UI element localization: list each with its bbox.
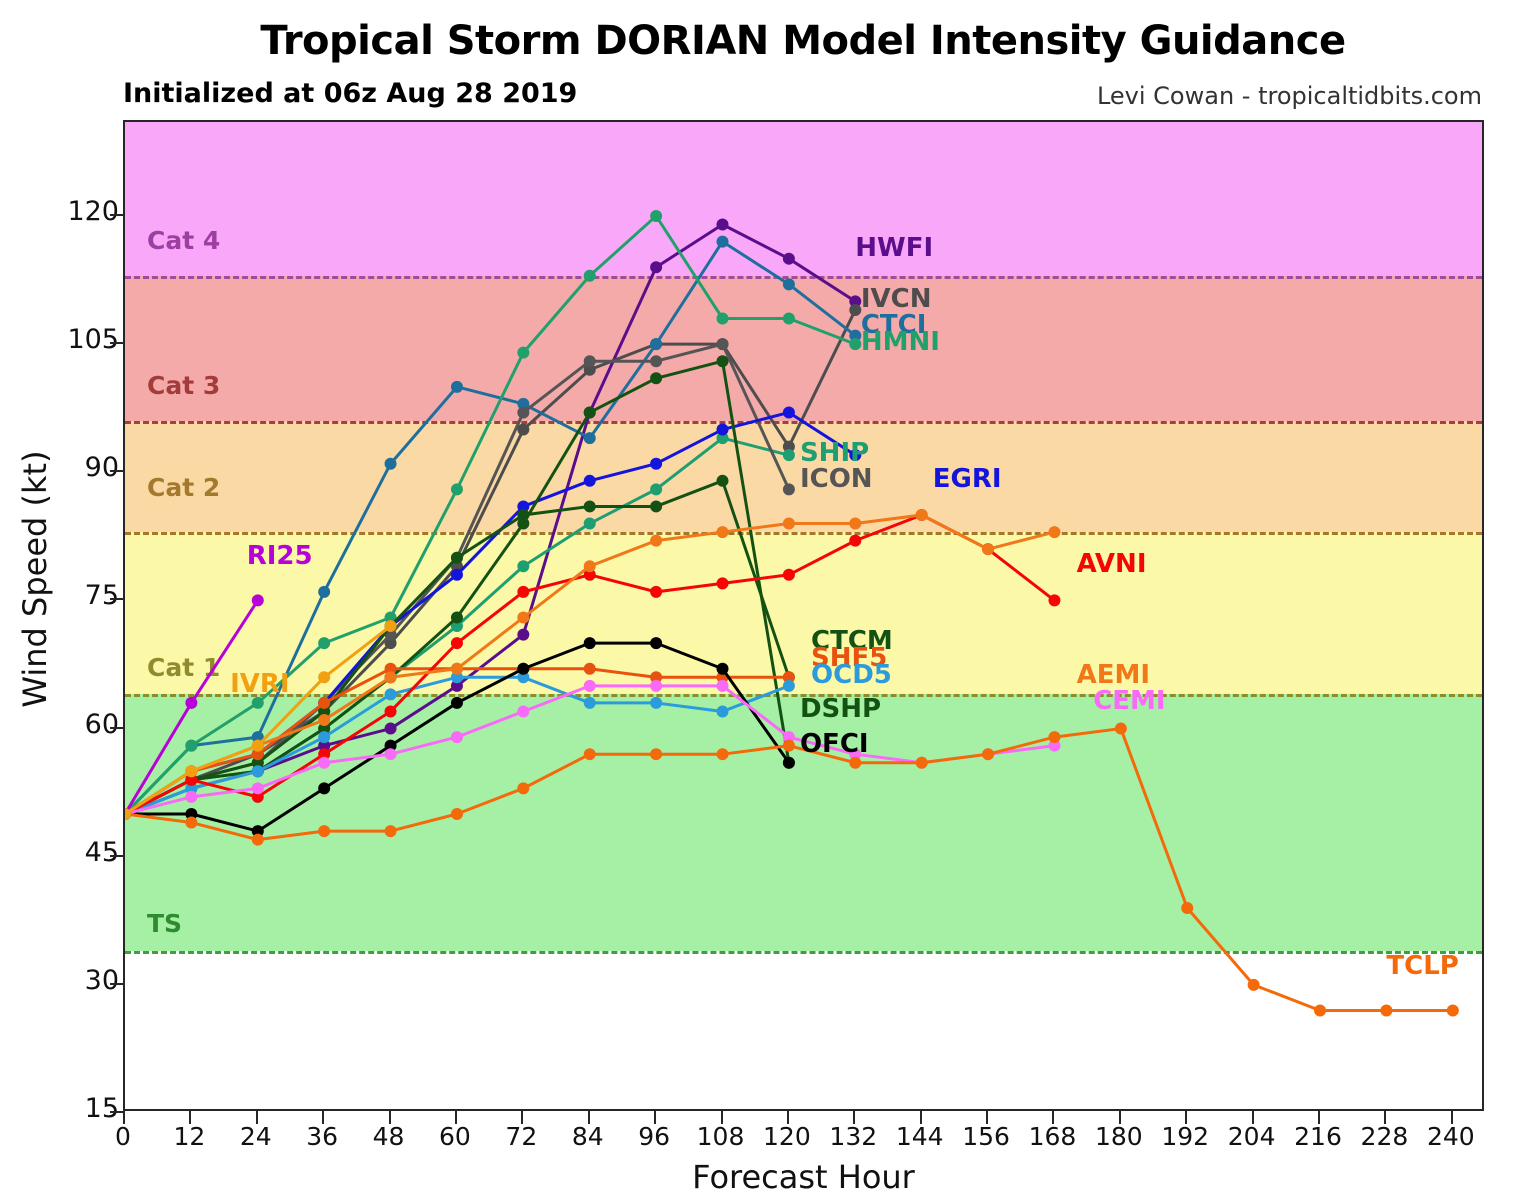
data-point (385, 688, 397, 700)
data-point (650, 637, 662, 649)
series-line-tclp (125, 729, 1453, 1011)
data-point (451, 637, 463, 649)
data-point (783, 406, 795, 418)
data-point (185, 740, 197, 752)
data-point (385, 671, 397, 683)
data-point (650, 500, 662, 512)
data-point (1447, 1004, 1459, 1016)
y-axis-tick-label: 15 (0, 1093, 119, 1124)
data-point (451, 552, 463, 564)
data-point (385, 723, 397, 735)
data-point (584, 560, 596, 572)
data-point (849, 338, 861, 350)
data-point (451, 808, 463, 820)
series-label-cemi: CEMI (1093, 686, 1165, 716)
data-point (650, 338, 662, 350)
x-axis-tick-mark (853, 1111, 855, 1124)
data-point (451, 697, 463, 709)
data-point (318, 586, 330, 598)
x-axis-tick-mark (1185, 1111, 1187, 1124)
data-point (717, 424, 729, 436)
data-point (318, 825, 330, 837)
x-axis-tick-mark (1451, 1111, 1453, 1124)
data-point (783, 569, 795, 581)
data-point (385, 748, 397, 760)
data-point (451, 381, 463, 393)
data-point (252, 765, 264, 777)
data-point (783, 253, 795, 265)
data-point (185, 817, 197, 829)
data-point (517, 663, 529, 675)
x-axis-tick-mark (1252, 1111, 1254, 1124)
data-point (584, 680, 596, 692)
data-point (1380, 1004, 1392, 1016)
series-label-ivri: IVRI (230, 669, 290, 699)
data-point (849, 535, 861, 547)
x-axis-tick-mark (256, 1111, 258, 1124)
data-point (517, 347, 529, 359)
series-label-hwfi: HWFI (855, 233, 933, 263)
data-point (584, 406, 596, 418)
x-axis-label: Forecast Hour (123, 1158, 1484, 1196)
data-point (584, 518, 596, 530)
page-title: Tropical Storm DORIAN Model Intensity Gu… (123, 18, 1483, 64)
data-point (650, 697, 662, 709)
data-point (1048, 526, 1060, 538)
x-axis-tick-mark (920, 1111, 922, 1124)
data-point (717, 705, 729, 717)
data-point (584, 270, 596, 282)
data-point (717, 338, 729, 350)
y-axis-tick-label: 45 (0, 837, 119, 868)
data-point (650, 261, 662, 273)
chart-credit: Levi Cowan - tropicaltidbits.com (1097, 82, 1482, 110)
data-point (783, 278, 795, 290)
series-hwfi (125, 219, 861, 820)
data-point (650, 372, 662, 384)
x-axis-tick-mark (721, 1111, 723, 1124)
y-axis-tick-mark (110, 598, 123, 600)
x-axis-tick-mark (787, 1111, 789, 1124)
y-axis-tick-mark (110, 1111, 123, 1113)
y-axis-label: Wind Speed (kt) (16, 319, 54, 839)
data-point (650, 458, 662, 470)
data-point (717, 680, 729, 692)
data-point (650, 535, 662, 547)
y-axis-tick-mark (110, 855, 123, 857)
data-point (584, 475, 596, 487)
data-point (385, 458, 397, 470)
data-point (650, 680, 662, 692)
data-point (650, 210, 662, 222)
series-egri (125, 406, 861, 820)
data-point (517, 424, 529, 436)
data-point (185, 765, 197, 777)
data-point (1248, 979, 1260, 991)
series-ocd5 (125, 671, 795, 820)
data-point (783, 680, 795, 692)
data-point (717, 663, 729, 675)
data-point (849, 304, 861, 316)
data-point (517, 586, 529, 598)
data-point (783, 483, 795, 495)
data-point (1181, 902, 1193, 914)
data-point (451, 663, 463, 675)
data-point (717, 219, 729, 231)
data-point (717, 577, 729, 589)
data-point (517, 560, 529, 572)
data-point (185, 791, 197, 803)
data-point (252, 782, 264, 794)
data-point (385, 825, 397, 837)
data-point (517, 629, 529, 641)
data-point (318, 671, 330, 683)
data-point (717, 526, 729, 538)
data-point (584, 748, 596, 760)
y-axis-tick-mark (110, 214, 123, 216)
data-point (982, 748, 994, 760)
data-point (385, 620, 397, 632)
data-point (252, 594, 264, 606)
data-point (318, 637, 330, 649)
x-axis-tick-mark (986, 1111, 988, 1124)
x-axis-tick-mark (521, 1111, 523, 1124)
y-axis-tick-label: 30 (0, 965, 119, 996)
x-axis-tick-mark (588, 1111, 590, 1124)
y-axis-tick-label: 120 (0, 196, 119, 227)
data-point (717, 312, 729, 324)
plot-area: TSCat 1Cat 2Cat 3Cat 4 HWFIIVCNCTCIHMNIS… (123, 120, 1484, 1111)
x-axis-tick-mark (389, 1111, 391, 1124)
y-axis-tick-mark (110, 727, 123, 729)
series-label-avni: AVNI (1077, 549, 1147, 579)
data-point (385, 705, 397, 717)
series-label-ocd5: OCD5 (811, 660, 892, 690)
data-point (717, 748, 729, 760)
y-axis-tick-label: 90 (0, 452, 119, 483)
x-axis-tick-label: 240 (1406, 1122, 1496, 1151)
y-axis-tick-label: 75 (0, 580, 119, 611)
x-axis-tick-mark (455, 1111, 457, 1124)
data-point (451, 569, 463, 581)
x-axis-tick-mark (1052, 1111, 1054, 1124)
data-point (318, 731, 330, 743)
series-label-tclp: TCLP (1386, 951, 1458, 981)
series-label-egri: EGRI (933, 464, 1002, 494)
data-point (584, 697, 596, 709)
data-point (252, 740, 264, 752)
data-point (650, 748, 662, 760)
data-point (451, 731, 463, 743)
data-point (650, 483, 662, 495)
chart-root: Tropical Storm DORIAN Model Intensity Gu… (0, 0, 1540, 1203)
data-point (916, 509, 928, 521)
y-axis-tick-label: 60 (0, 709, 119, 740)
data-point (517, 782, 529, 794)
x-axis-tick-mark (123, 1111, 125, 1124)
x-axis-tick-mark (654, 1111, 656, 1124)
data-point (849, 518, 861, 530)
data-point (517, 705, 529, 717)
data-point (318, 697, 330, 709)
data-point (717, 355, 729, 367)
data-point (1048, 594, 1060, 606)
series-layer (125, 122, 1484, 1111)
series-label-icon: ICON (800, 464, 873, 494)
y-axis-tick-mark (110, 983, 123, 985)
data-point (783, 757, 795, 769)
data-point (517, 518, 529, 530)
data-point (185, 697, 197, 709)
data-point (517, 612, 529, 624)
data-point (584, 355, 596, 367)
x-axis-tick-mark (1318, 1111, 1320, 1124)
series-label-ri25: RI25 (247, 541, 313, 571)
series-label-dshp: DSHP (800, 694, 881, 724)
data-point (1115, 723, 1127, 735)
x-axis-tick-mark (189, 1111, 191, 1124)
data-point (650, 355, 662, 367)
data-point (584, 637, 596, 649)
series-hmni (125, 210, 861, 820)
series-label-ofci: OFCI (800, 729, 869, 759)
data-point (318, 714, 330, 726)
data-point (916, 757, 928, 769)
y-axis-tick-label: 105 (0, 324, 119, 355)
data-point (783, 518, 795, 530)
x-axis-tick-mark (1119, 1111, 1121, 1124)
data-point (717, 236, 729, 248)
y-axis-tick-mark (110, 470, 123, 472)
data-point (584, 663, 596, 675)
chart-subtitle: Initialized at 06z Aug 28 2019 (123, 78, 577, 109)
data-point (584, 432, 596, 444)
data-point (517, 406, 529, 418)
data-point (318, 782, 330, 794)
data-point (1048, 731, 1060, 743)
series-line-ivcn (125, 310, 855, 814)
data-point (252, 834, 264, 846)
data-point (650, 586, 662, 598)
x-axis-tick-mark (1384, 1111, 1386, 1124)
y-axis-tick-mark (110, 342, 123, 344)
data-point (783, 449, 795, 461)
data-point (1314, 1004, 1326, 1016)
data-point (982, 543, 994, 555)
data-point (783, 740, 795, 752)
data-point (451, 612, 463, 624)
data-point (318, 757, 330, 769)
data-point (584, 500, 596, 512)
x-axis-tick-mark (322, 1111, 324, 1124)
data-point (451, 483, 463, 495)
data-point (783, 312, 795, 324)
series-label-hmni: HMNI (861, 327, 940, 357)
data-point (717, 475, 729, 487)
